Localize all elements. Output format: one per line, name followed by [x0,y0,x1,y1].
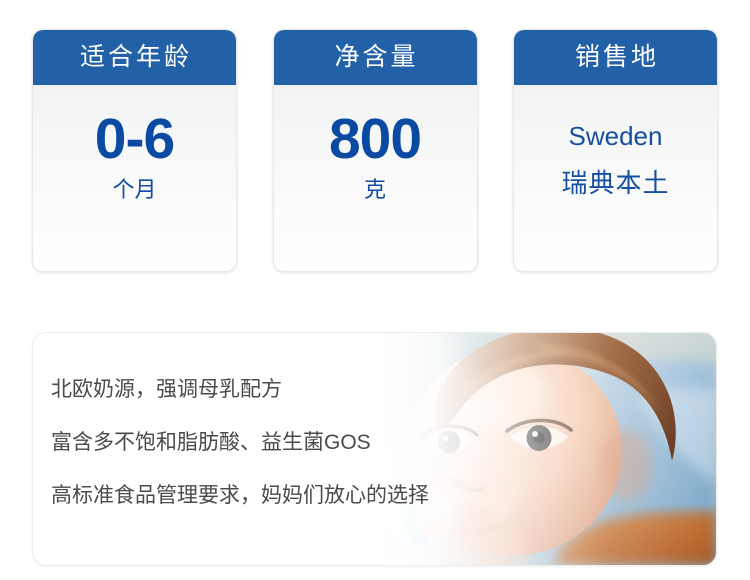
spec-card-netweight-unit: 克 [364,176,386,205]
spec-card-netweight: 净含量 800 克 [273,29,478,272]
spec-card-origin-header: 销售地 [514,30,717,85]
feature-line-3: 高标准食品管理要求，妈妈们放心的选择 [51,485,611,506]
feature-line-2: 富含多不饱和脂肪酸、益生菌GOS [51,432,611,453]
feature-panel: 北欧奶源，强调母乳配方 富含多不饱和脂肪酸、益生菌GOS 高标准食品管理要求，妈… [32,332,717,566]
spec-card-netweight-body: 800 克 [274,85,477,271]
spec-card-origin-body: Sweden 瑞典本土 [514,85,717,271]
spec-card-origin-country-en: Sweden [569,119,663,154]
spec-card-age-header: 适合年龄 [33,30,236,85]
spec-card-origin-country-zh: 瑞典本土 [561,166,669,201]
product-spec-infographic: 适合年龄 0-6 个月 净含量 800 克 销售地 Sweden 瑞典本土 [0,0,750,580]
feature-text-block: 北欧奶源，强调母乳配方 富含多不饱和脂肪酸、益生菌GOS 高标准食品管理要求，妈… [51,379,611,506]
spec-card-netweight-value: 800 [329,111,421,168]
spec-card-origin: 销售地 Sweden 瑞典本土 [513,29,718,272]
spec-cards-row: 适合年龄 0-6 个月 净含量 800 克 销售地 Sweden 瑞典本土 [32,29,718,272]
spec-card-netweight-header: 净含量 [274,30,477,85]
spec-card-age-unit: 个月 [112,176,156,205]
spec-card-age-body: 0-6 个月 [33,85,236,271]
spec-card-age-value: 0-6 [95,111,174,168]
spec-card-age: 适合年龄 0-6 个月 [32,29,237,272]
feature-line-1: 北欧奶源，强调母乳配方 [51,379,611,400]
